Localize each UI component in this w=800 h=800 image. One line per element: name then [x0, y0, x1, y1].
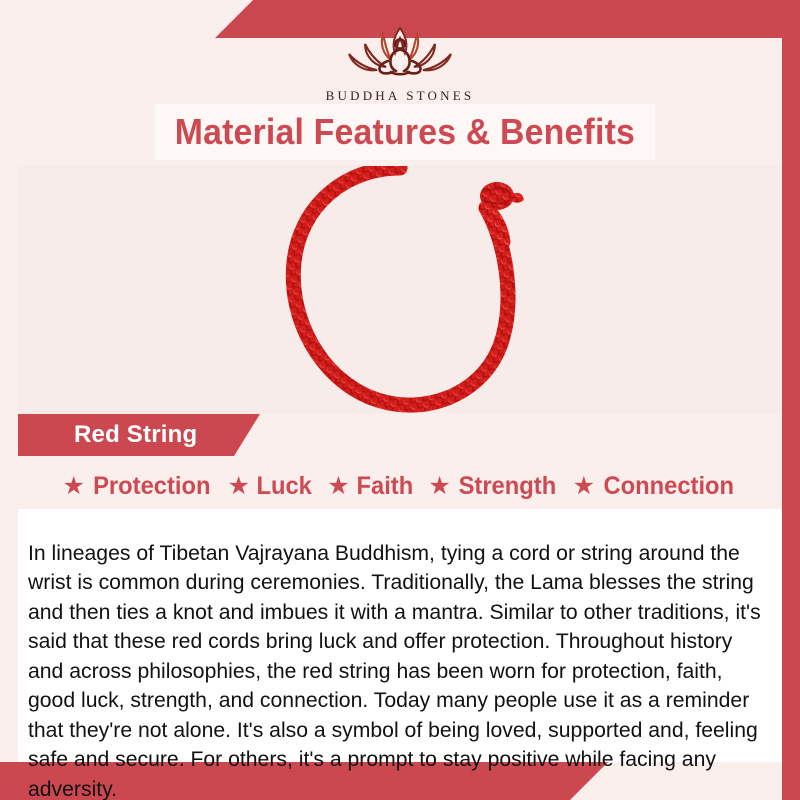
lotus-meditation-logo-icon	[325, 18, 475, 84]
brand-logo: BUDDHA STONES	[0, 18, 800, 104]
brand-name: BUDDHA STONES	[326, 88, 475, 104]
benefit-label: Luck	[256, 472, 311, 501]
star-icon: ★	[327, 474, 349, 499]
benefit-label: Strength	[458, 472, 556, 501]
star-icon: ★	[573, 474, 595, 499]
product-image	[18, 166, 782, 414]
infographic-page: BUDDHA STONES Material Features & Benefi…	[0, 0, 800, 800]
benefit-item-strength: ★ Strength	[423, 472, 563, 501]
page-title: Material Features & Benefits	[175, 111, 635, 153]
product-label-banner: Red String	[18, 414, 260, 456]
star-icon: ★	[428, 474, 450, 499]
benefit-label: Faith	[356, 472, 413, 501]
description-text: In lineages of Tibetan Vajrayana Buddhis…	[28, 539, 765, 800]
benefit-item-luck: ★ Luck	[223, 472, 319, 501]
description-panel: In lineages of Tibetan Vajrayana Buddhis…	[18, 509, 782, 762]
benefits-row: ★ Protection ★ Luck ★ Faith ★ Strength ★…	[18, 466, 782, 506]
benefit-item-connection: ★ Connection	[568, 472, 743, 501]
benefit-item-faith: ★ Faith	[322, 472, 419, 501]
benefit-label: Protection	[93, 472, 210, 501]
title-banner: Material Features & Benefits	[155, 104, 655, 160]
red-string-bracelet-icon	[250, 166, 550, 414]
star-icon: ★	[228, 474, 250, 499]
star-icon: ★	[62, 474, 84, 499]
right-accent-strip	[782, 0, 800, 800]
benefit-label: Connection	[603, 472, 734, 501]
benefit-item-protection: ★ Protection	[57, 472, 218, 501]
product-label: Red String	[74, 421, 197, 449]
